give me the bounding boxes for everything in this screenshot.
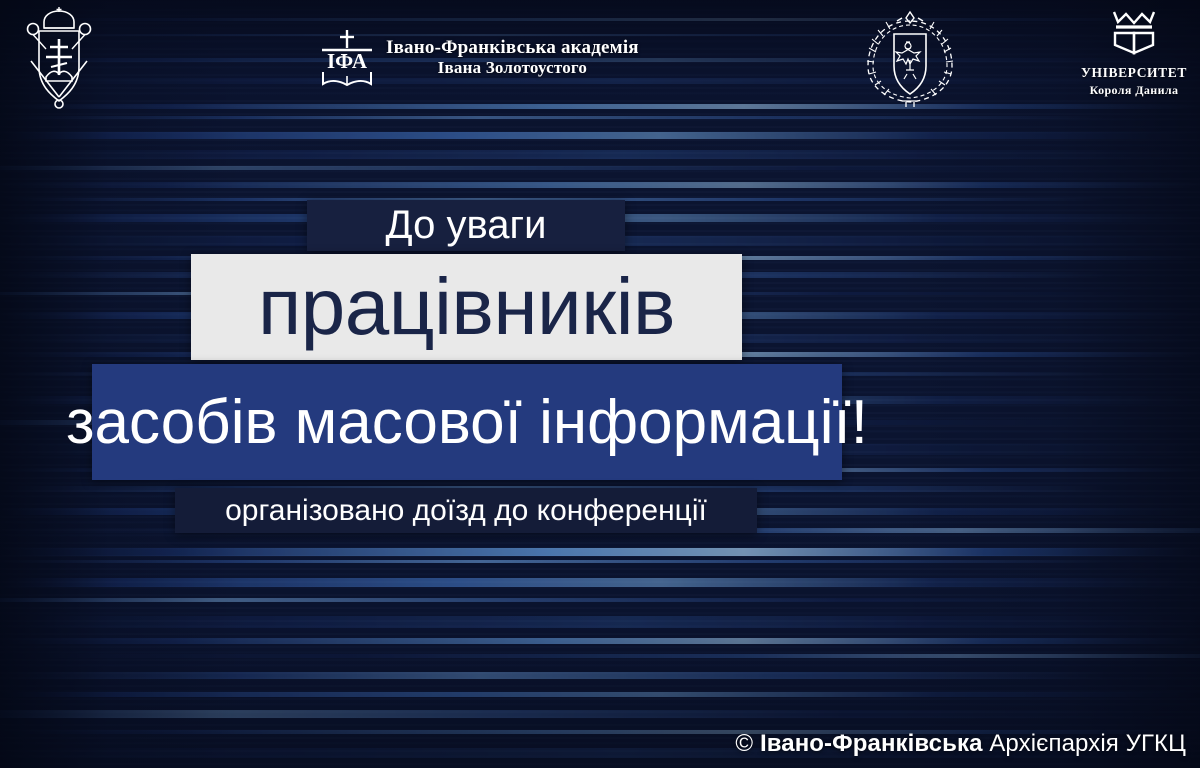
ivano-frankivsk-coat-of-arms-icon [860,8,960,108]
header-logo-bar: ІФА Івано-Франківська академія Івана Зол… [0,0,1200,118]
academy-name-line2: Івана Золотоустого [386,58,639,77]
svg-text:ІФА: ІФА [327,49,368,73]
copyright-footer: © Івано-Франківська Архієпархія УГКЦ [735,730,1186,758]
academy-name-line1: Івано-Франківська академія [386,37,639,58]
copyright-organization-bold: Івано-Франківська [760,730,983,757]
university-name-line2: Короля Данила [1078,83,1190,98]
crown-book-shield-icon [1102,8,1166,60]
academy-logo-text: Івано-Франківська академія Івана Золотоу… [386,37,639,77]
ifa-book-cross-icon: ІФА [318,26,376,88]
headline-line-2: працівників [191,254,742,360]
copyright-organization-rest: Архієпархія УГКЦ [989,730,1186,757]
university-name-line1: УНІВЕРСИТЕТ [1078,66,1190,81]
eparchy-coat-of-arms-icon [18,5,100,110]
academy-logo: ІФА Івано-Франківська академія Івана Зол… [318,26,639,88]
copyright-symbol: © [735,730,753,757]
headline-line-1: До уваги [307,200,625,251]
headline-line-4: організовано доїзд до конференції [175,488,757,533]
banner-stage: ІФА Івано-Франківська академія Івана Зол… [0,0,1200,768]
university-logo: УНІВЕРСИТЕТ Короля Данила [1078,8,1190,98]
headline-line-3: засобів масової інформації! [92,364,842,480]
